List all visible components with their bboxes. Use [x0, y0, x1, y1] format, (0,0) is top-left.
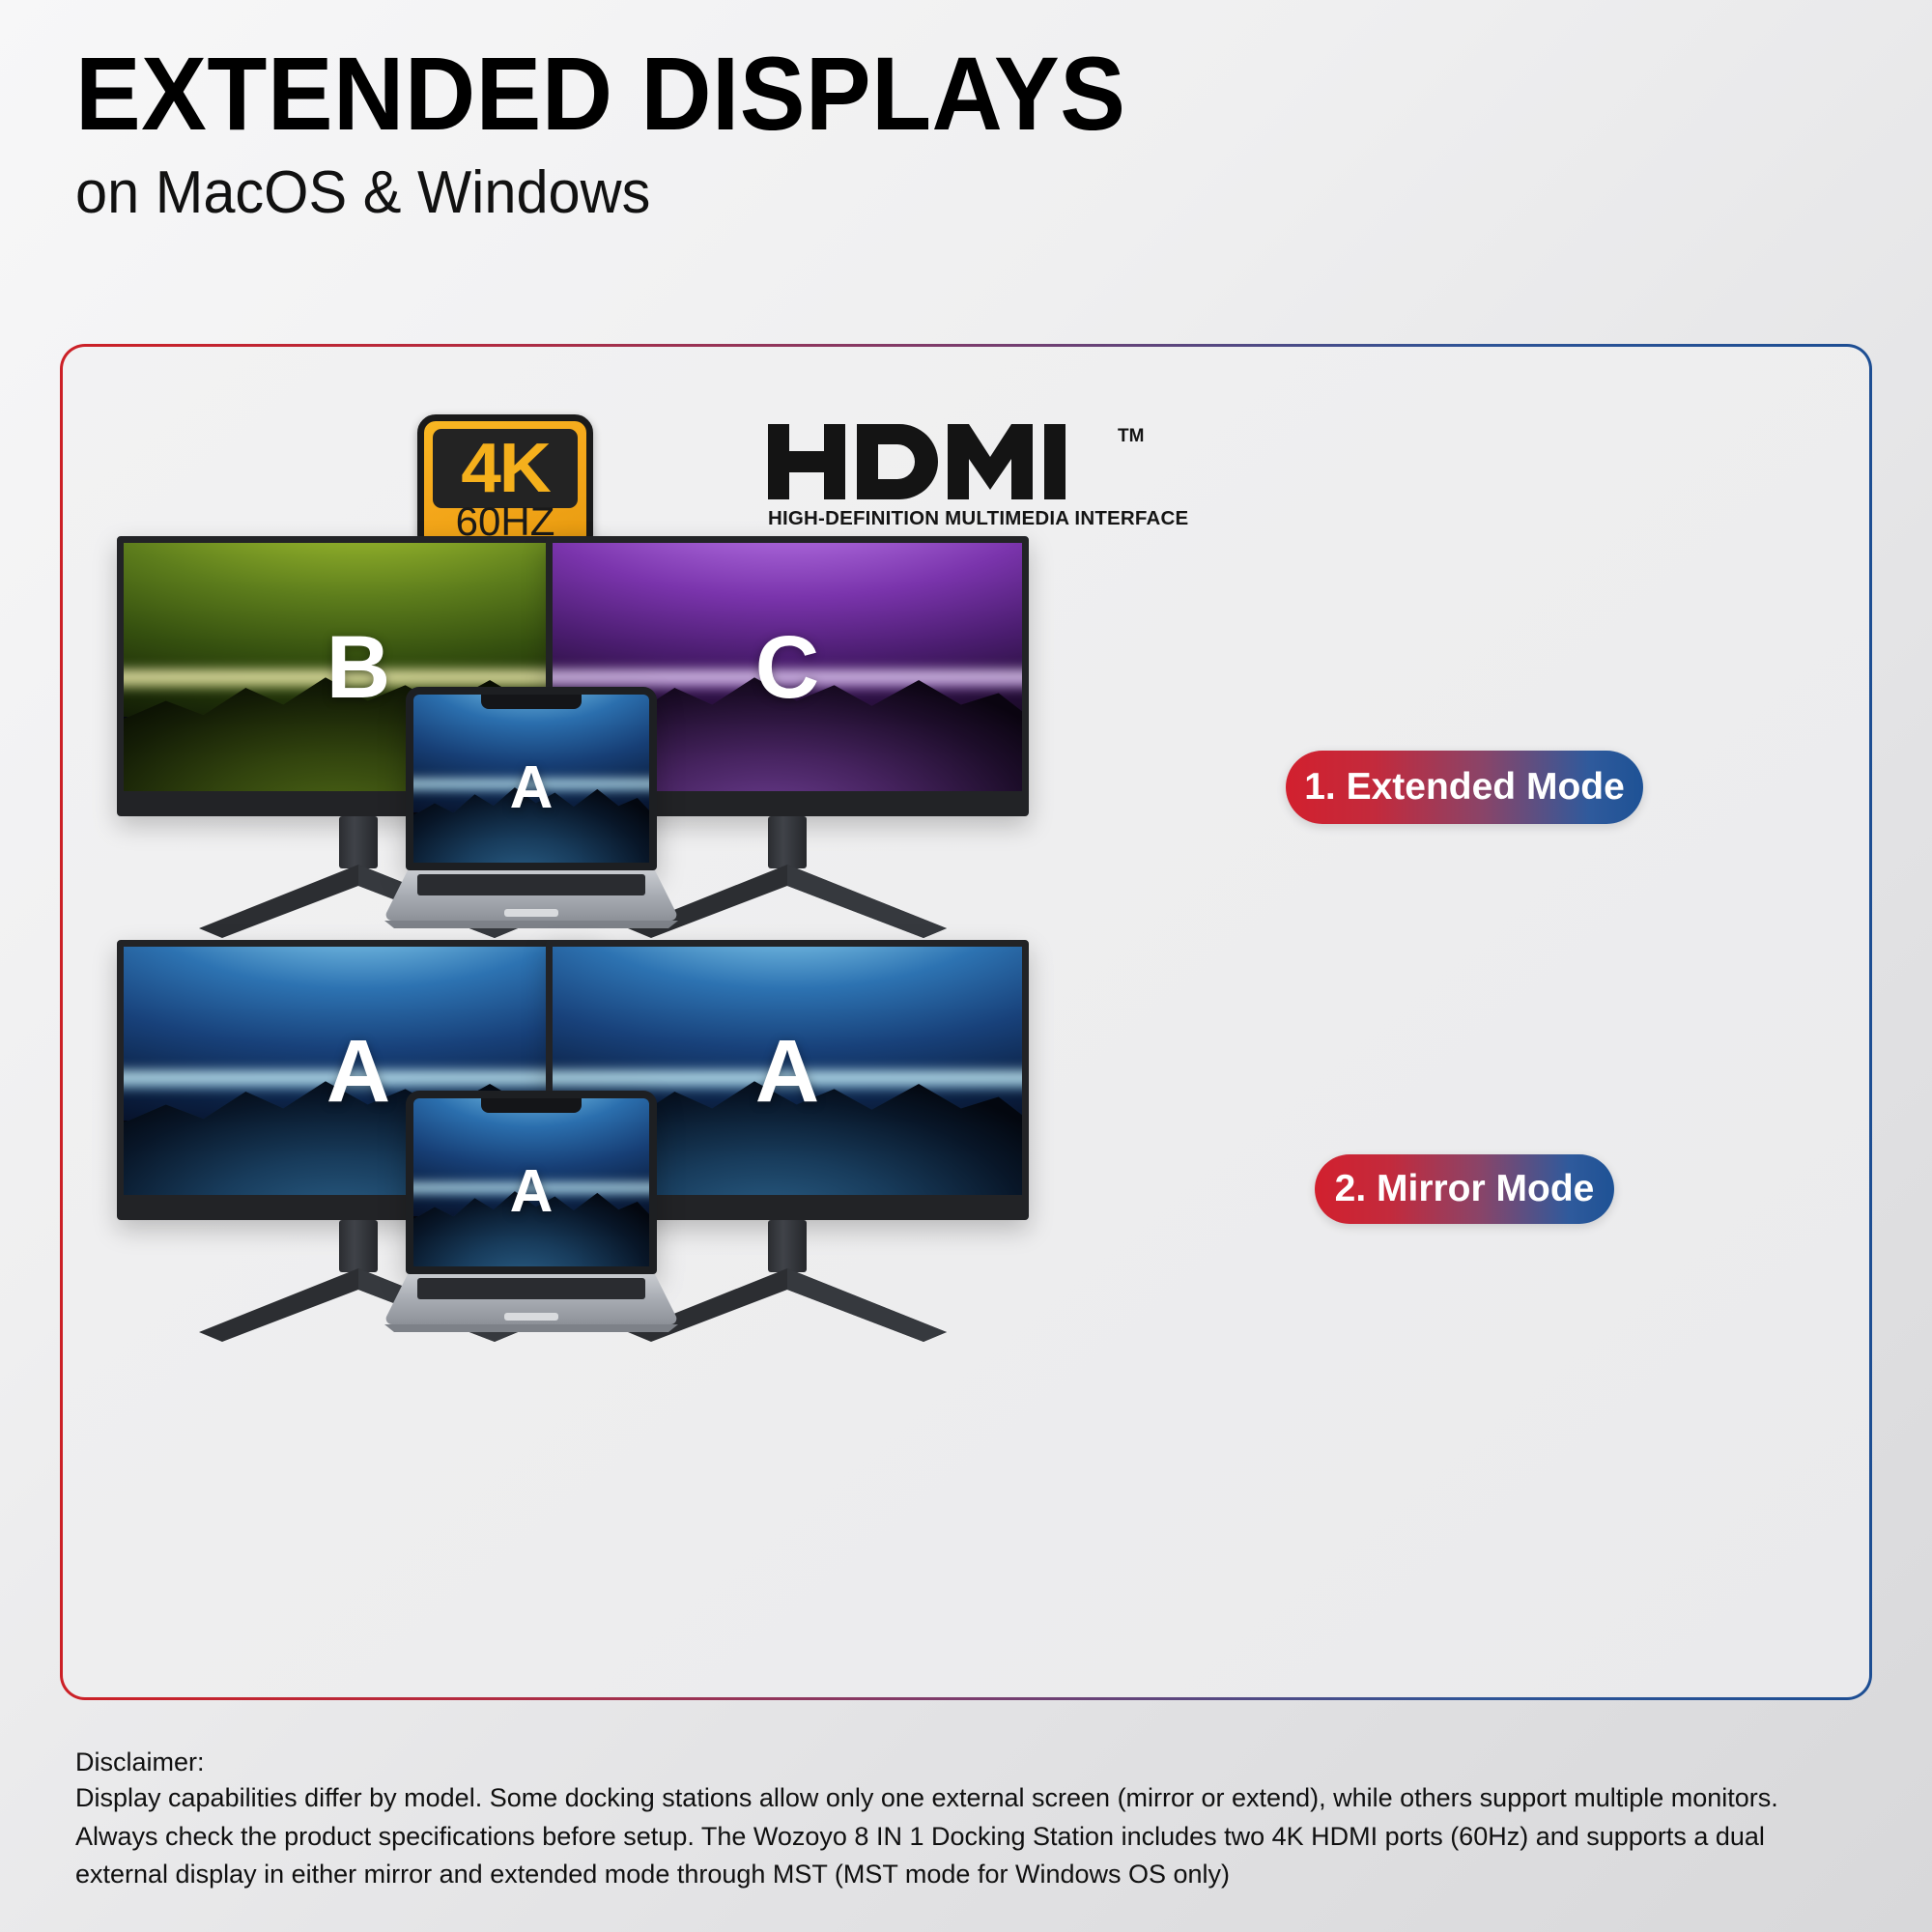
hdmi-logo-icon: TM HIGH-DEFINITION MULTIMEDIA INTERFACE [768, 424, 1174, 530]
content-panel-inner: 4K 60HZ [63, 347, 1869, 1697]
laptop-mirror-letter: A [413, 1162, 649, 1222]
disclaimer-block: Disclaimer: Display capabilities differ … [75, 1745, 1862, 1893]
hdmi-glyph-icon [768, 424, 1112, 499]
page-header: EXTENDED DISPLAYS on MacOS & Windows [75, 41, 1524, 226]
disclaimer-heading: Disclaimer: [75, 1745, 1862, 1779]
mode-pill-mirror[interactable]: 2. Mirror Mode [1315, 1154, 1614, 1224]
wallpaper-blue-planet: A [413, 695, 649, 863]
laptop-mirror-lid: A [406, 1091, 657, 1274]
mode-pill-extended-label: 1. Extended Mode [1304, 766, 1625, 809]
laptop-mirror-deck [377, 1274, 686, 1334]
hdmi-wordmark: TM [768, 424, 1174, 499]
wallpaper-blue-planet: A [413, 1098, 649, 1266]
4k-badge-upper: 4K [433, 429, 578, 508]
laptop-a-lid: A [406, 687, 657, 870]
monitor-mirror-right-neck [768, 1220, 807, 1272]
content-panel: 4K 60HZ [60, 344, 1872, 1700]
laptop-notch-icon [481, 1098, 582, 1113]
laptop-a-letter: A [413, 758, 649, 818]
monitor-b-neck [339, 816, 378, 868]
mode-pill-mirror-label: 2. Mirror Mode [1335, 1168, 1595, 1210]
disclaimer-line-1: Display capabilities differ by model. So… [75, 1779, 1862, 1817]
laptop-a: A [406, 687, 657, 938]
monitor-mirror-left-neck [339, 1220, 378, 1272]
page-title: EXTENDED DISPLAYS [75, 41, 1437, 147]
badge-row: 4K 60HZ [63, 347, 1869, 540]
laptop-a-deck [377, 870, 686, 930]
laptop-notch-icon [481, 695, 582, 709]
page-subtitle: on MacOS & Windows [75, 160, 1466, 226]
mirror-mode-scene: A [63, 930, 1869, 1500]
disclaimer-line-2: Always check the product specifications … [75, 1818, 1862, 1856]
mode-pill-extended[interactable]: 1. Extended Mode [1286, 751, 1643, 824]
laptop-mirror: A [406, 1091, 657, 1342]
monitor-c-neck [768, 816, 807, 868]
disclaimer-line-3: external display in either mirror and ex… [75, 1856, 1862, 1893]
4k-badge-label: 4K [461, 434, 550, 503]
trademark-icon: TM [1118, 426, 1144, 447]
